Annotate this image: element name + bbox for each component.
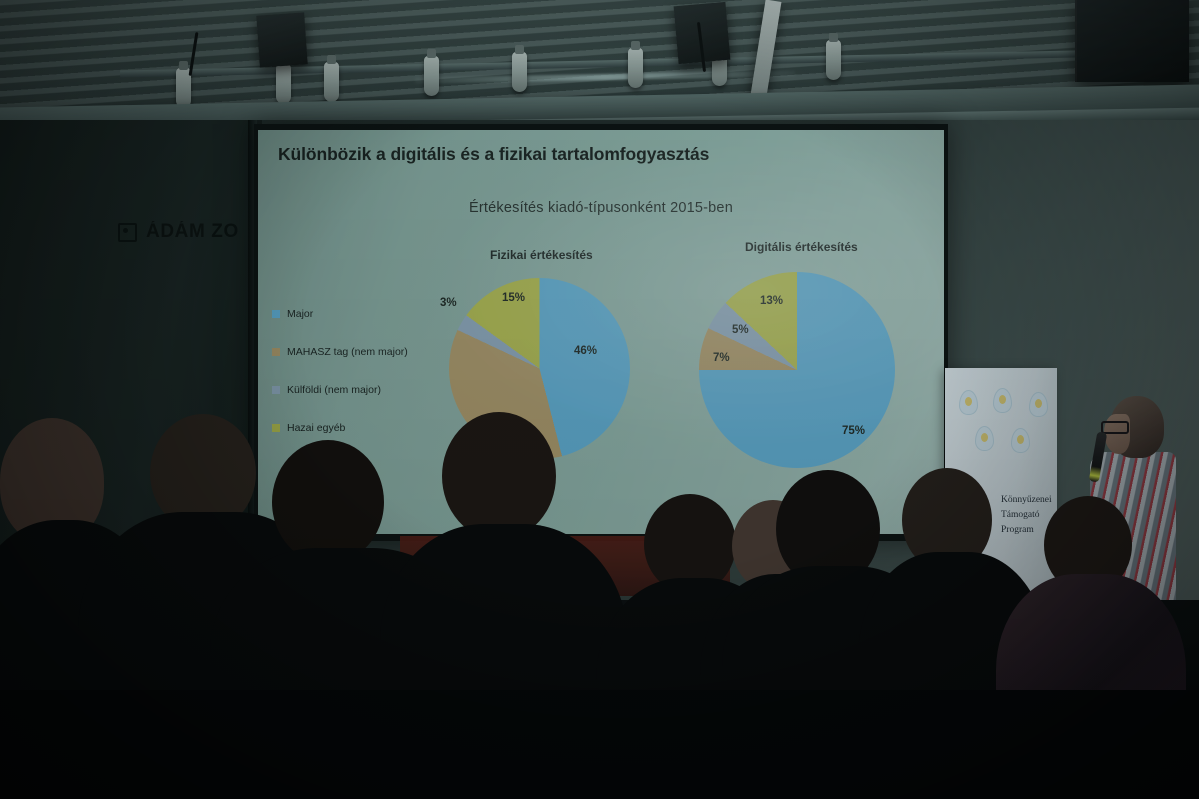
- legend-label-mahasz: MAHASZ tag (nem major): [287, 346, 408, 358]
- banner-text-line2: Támogató: [1001, 508, 1052, 523]
- legend-swatch-kulfoldi: [272, 386, 280, 394]
- ceiling-spotlight: [324, 62, 339, 102]
- legend-swatch-major: [272, 310, 280, 318]
- legend-label-hazai: Hazai egyéb: [287, 422, 345, 434]
- legend-swatch-hazai: [272, 424, 280, 432]
- ceiling-spotlight: [826, 40, 841, 80]
- legend-item-major: Major: [272, 308, 452, 320]
- chart-legend: Major MAHASZ tag (nem major) Külföldi (n…: [272, 308, 452, 460]
- banner-graphic-blob: [975, 426, 994, 451]
- pie-label-digital-major: 75%: [842, 425, 865, 437]
- foreground-shadow: [0, 690, 1199, 799]
- pie-label-digital-mahasz: 7%: [713, 352, 730, 364]
- audience-head: [272, 440, 384, 564]
- banner-graphic-blob: [1029, 392, 1048, 417]
- ceiling-spotlight: [628, 48, 643, 88]
- wall-sign-text: ÁDÁM ZO: [146, 221, 239, 243]
- pie-chart-digital: [699, 272, 895, 468]
- ceiling-speaker: [1075, 0, 1189, 82]
- legend-item-mahasz: MAHASZ tag (nem major): [272, 346, 452, 358]
- audience-head: [442, 412, 556, 540]
- banner-text-line1: Könnyűzenei: [1001, 493, 1052, 508]
- photo-scene: ÁDÁM ZO Különbözik a digitális és a fizi…: [0, 0, 1199, 799]
- wall-sign: ÁDÁM ZO: [118, 221, 258, 243]
- ceiling-spotlight: [512, 52, 527, 92]
- legend-item-kulfoldi: Külföldi (nem major): [272, 384, 452, 396]
- pie-label-physical-domestic-other: 15%: [502, 292, 525, 304]
- pie-label-physical-major: 46%: [574, 345, 597, 357]
- ceiling-spotlight: [424, 56, 439, 96]
- legend-label-major: Major: [287, 308, 313, 320]
- chart-heading-digital: Digitális értékesítés: [745, 240, 858, 254]
- banner-graphic-blob: [959, 390, 978, 415]
- banner-graphic-blob: [993, 388, 1012, 413]
- legend-label-kulfoldi: Külföldi (nem major): [287, 384, 381, 396]
- chart-heading-physical: Fizikai értékesítés: [490, 248, 593, 262]
- legend-item-hazai: Hazai egyéb: [272, 422, 452, 434]
- presenter-face: [1104, 414, 1130, 454]
- pie-label-digital-domestic-other: 13%: [760, 295, 783, 307]
- aperture-icon: [118, 223, 137, 242]
- slide-subtitle: Értékesítés kiadó-típusonként 2015-ben: [258, 200, 944, 216]
- banner-text: Könnyűzenei Támogató Program: [1001, 493, 1052, 538]
- glasses-icon: [1101, 421, 1129, 434]
- legend-swatch-mahasz: [272, 348, 280, 356]
- ceiling-projector: [256, 12, 308, 67]
- banner-graphic-blob: [1011, 428, 1030, 453]
- pie-label-digital-foreign: 5%: [732, 324, 749, 336]
- ceiling-spotlight: [276, 64, 291, 104]
- pie-label-physical-foreign: 3%: [440, 297, 457, 309]
- slide-title: Különbözik a digitális és a fizikai tart…: [278, 144, 709, 165]
